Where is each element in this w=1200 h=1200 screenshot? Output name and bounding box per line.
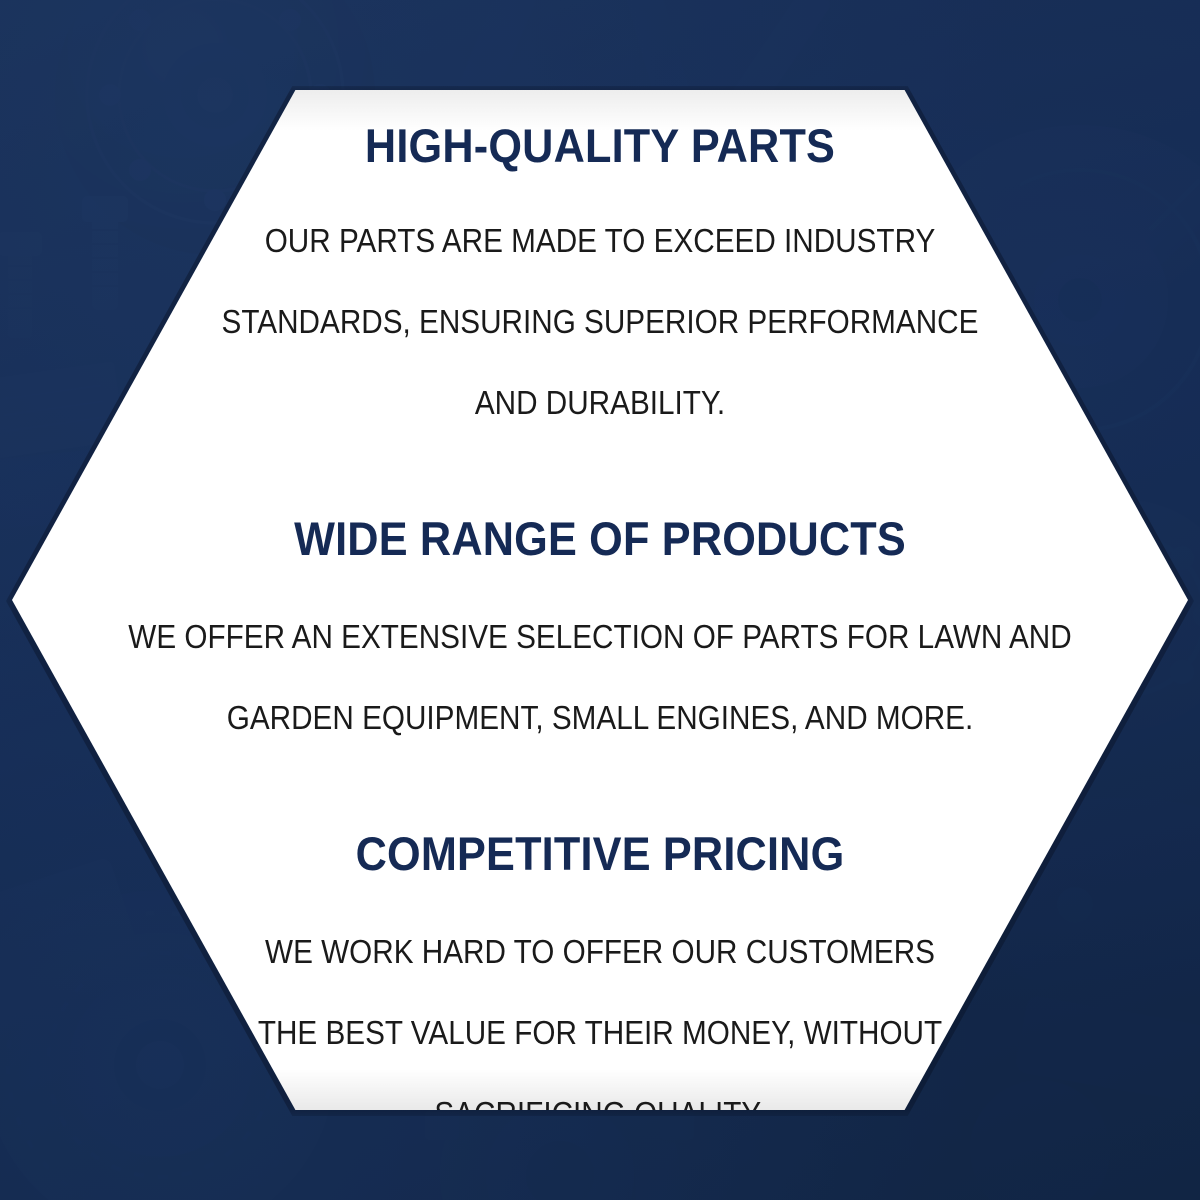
feature-body-line: WE OFFER AN EXTENSIVE SELECTION OF PARTS… [71, 620, 1129, 653]
feature-body-line: WE WORK HARD TO OFFER OUR CUSTOMERS [71, 935, 1129, 968]
feature-body-line: STANDARDS, ENSURING SUPERIOR PERFORMANCE [71, 305, 1129, 338]
feature-block-wide-range-of-products: WIDE RANGE OF PRODUCTS WE OFFER AN EXTEN… [12, 515, 1188, 734]
feature-body-line: GARDEN EQUIPMENT, SMALL ENGINES, AND MOR… [71, 701, 1129, 734]
feature-body-line: AND DURABILITY. [71, 386, 1129, 419]
promo-banner: HIGH-QUALITY PARTS OUR PARTS ARE MADE TO… [0, 0, 1200, 1200]
feature-title-wide-range-of-products: WIDE RANGE OF PRODUCTS [59, 515, 1141, 562]
feature-body-wide-range-of-products: WE OFFER AN EXTENSIVE SELECTION OF PARTS… [12, 620, 1188, 734]
feature-body-line: OUR PARTS ARE MADE TO EXCEED INDUSTRY [71, 224, 1129, 257]
feature-title-competitive-pricing: COMPETITIVE PRICING [59, 830, 1141, 877]
